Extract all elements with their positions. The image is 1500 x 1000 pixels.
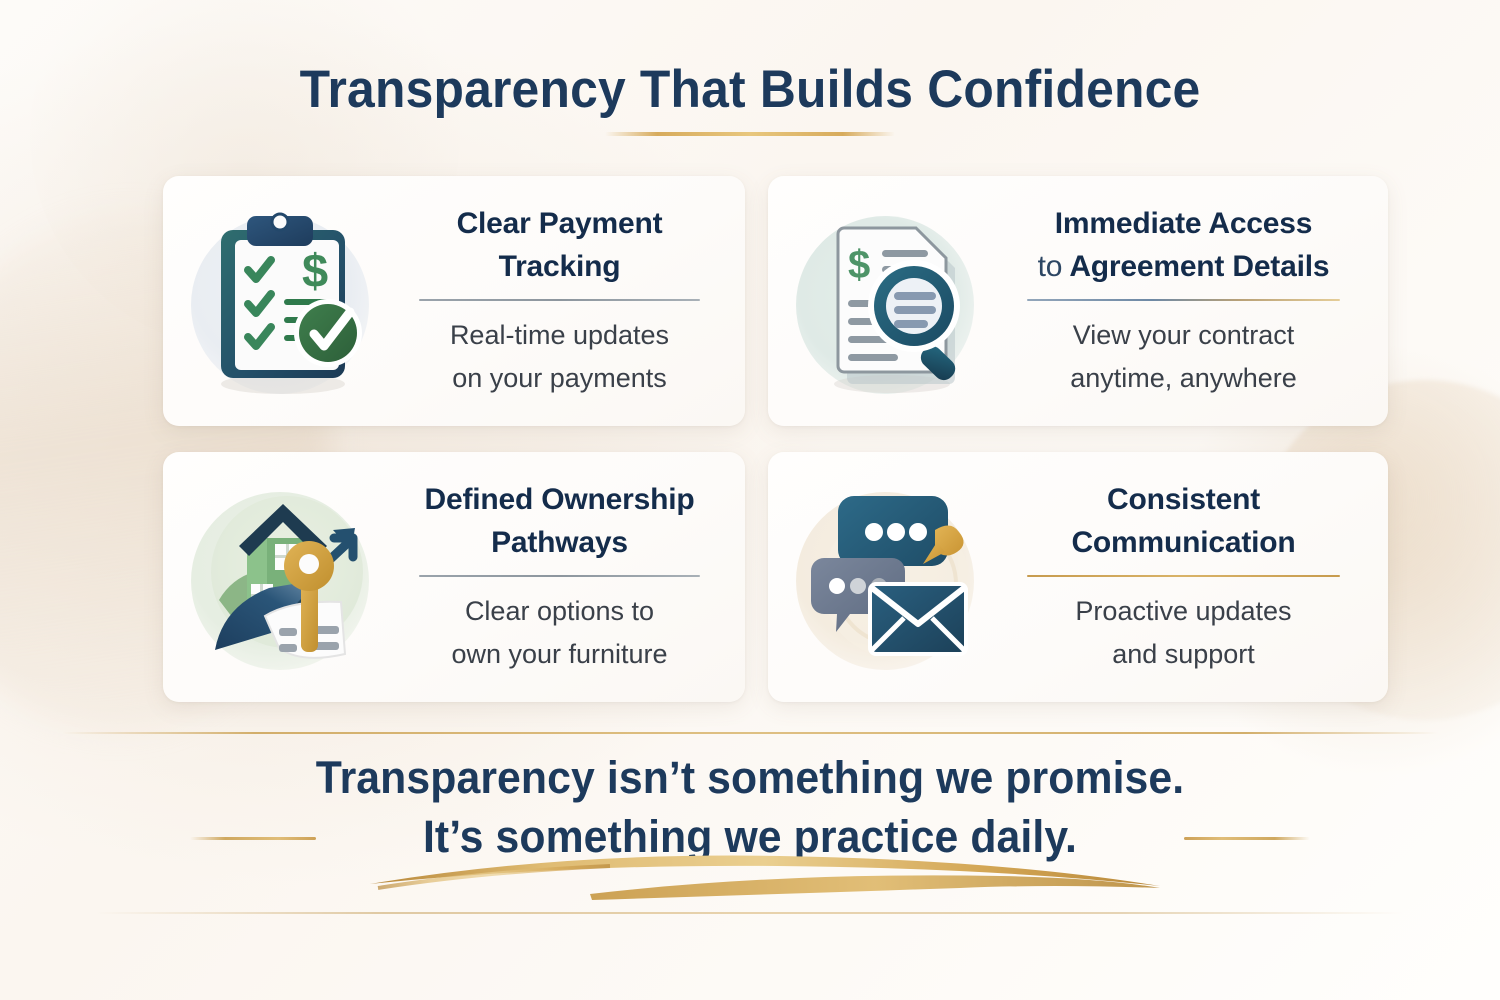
page-title: Transparency That Builds Confidence bbox=[45, 62, 1455, 118]
clipboard-checklist-dollar-icon: $ bbox=[199, 204, 377, 399]
card-text-block: Consistent Communication Proactive updat… bbox=[995, 479, 1372, 674]
card-icon-slot bbox=[185, 470, 390, 685]
card-subtitle-line1: Clear options to bbox=[465, 596, 654, 626]
card-title: Immediate Access to Agreement Details bbox=[1038, 203, 1330, 288]
card-title: Defined Ownership Pathways bbox=[425, 479, 695, 564]
card-subtitle: Proactive updates and support bbox=[1075, 590, 1291, 674]
card-icon-slot bbox=[790, 470, 995, 685]
card-subtitle-line1: View your contract bbox=[1073, 320, 1295, 350]
card-subtitle-line1: Real-time updates bbox=[450, 320, 669, 350]
card-icon-slot: $ bbox=[790, 194, 995, 409]
card-divider bbox=[1027, 575, 1341, 577]
card-divider bbox=[419, 299, 700, 301]
card-title-line2: Tracking bbox=[499, 250, 621, 283]
card-subtitle: Clear options to own your furniture bbox=[451, 590, 667, 674]
card-subtitle-line1: Proactive updates bbox=[1075, 596, 1291, 626]
house-key-document-icon bbox=[199, 480, 377, 675]
infographic-canvas: Transparency That Builds Confidence bbox=[0, 0, 1500, 1000]
footer: Transparency isn’t something we promise.… bbox=[0, 726, 1500, 926]
card-subtitle: View your contract anytime, anywhere bbox=[1070, 314, 1297, 398]
svg-text:$: $ bbox=[302, 244, 328, 297]
card-title-line1: Clear Payment bbox=[457, 207, 663, 240]
document-magnifier-icon: $ bbox=[804, 204, 982, 399]
card-title-line1: Defined Ownership bbox=[425, 483, 695, 516]
footer-gold-rule-bottom bbox=[95, 912, 1405, 914]
svg-text:$: $ bbox=[848, 243, 870, 287]
chat-bubbles-envelope-icon bbox=[804, 480, 982, 675]
footer-line-1: Transparency isn’t something we promise. bbox=[38, 748, 1463, 807]
card-title-line2: Agreement Details bbox=[1069, 250, 1329, 283]
card-title-line2: Pathways bbox=[491, 526, 628, 559]
card-divider bbox=[419, 575, 700, 577]
card-text-block: Clear Payment Tracking Real-time updates… bbox=[390, 203, 729, 398]
gold-brush-flourish-icon bbox=[360, 850, 1170, 910]
card-subtitle: Real-time updates on your payments bbox=[450, 314, 669, 398]
card-title: Clear Payment Tracking bbox=[457, 203, 663, 288]
feature-card-defined-ownership[interactable]: Defined Ownership Pathways Clear options… bbox=[163, 452, 745, 702]
card-text-block: Defined Ownership Pathways Clear options… bbox=[390, 479, 729, 674]
card-subtitle-line2: on your payments bbox=[452, 363, 667, 393]
feature-card-clear-payment-tracking[interactable]: $ Clear Payment Tracking bbox=[163, 176, 745, 426]
card-title-line1: Immediate Access bbox=[1055, 207, 1313, 240]
footer-statement: Transparency isn’t something we promise.… bbox=[0, 748, 1500, 867]
card-title-connector: to bbox=[1038, 250, 1063, 283]
card-title-line1: Consistent bbox=[1107, 483, 1260, 516]
feature-card-consistent-communication[interactable]: Consistent Communication Proactive updat… bbox=[768, 452, 1388, 702]
header: Transparency That Builds Confidence bbox=[0, 62, 1500, 136]
card-subtitle-line2: own your furniture bbox=[451, 639, 667, 669]
feature-card-grid: $ Clear Payment Tracking bbox=[163, 176, 1388, 702]
card-subtitle-line2: anytime, anywhere bbox=[1070, 363, 1297, 393]
card-divider bbox=[1027, 299, 1341, 301]
card-icon-slot: $ bbox=[185, 194, 390, 409]
card-title: Consistent Communication bbox=[1071, 479, 1295, 564]
feature-card-immediate-access[interactable]: $ Immediate Acc bbox=[768, 176, 1388, 426]
card-text-block: Immediate Access to Agreement Details Vi… bbox=[995, 203, 1372, 398]
footer-gold-rule-top bbox=[62, 732, 1438, 734]
card-title-line2: Communication bbox=[1071, 526, 1295, 559]
card-subtitle-line2: and support bbox=[1112, 639, 1255, 669]
title-underline-accent bbox=[605, 132, 895, 136]
